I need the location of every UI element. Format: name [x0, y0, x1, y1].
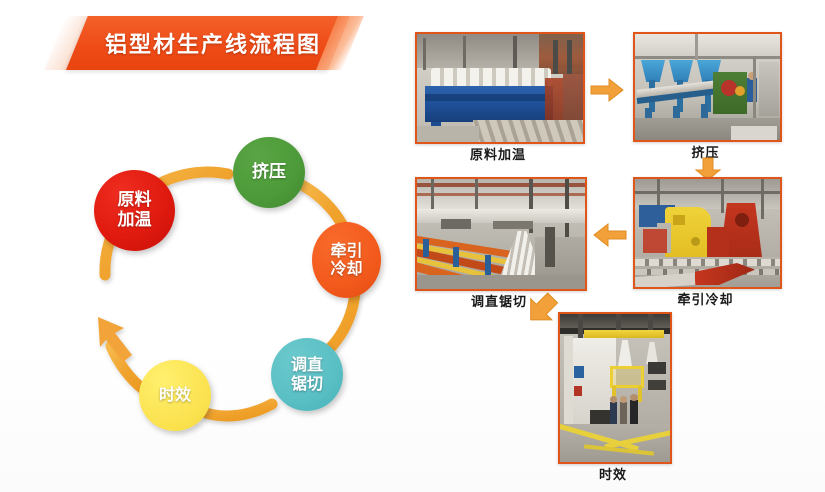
cycle-node-extrusion[interactable]: 挤压: [233, 137, 305, 208]
page-title: 铝型材生产线流程图: [88, 16, 338, 70]
photo-traction-caption: 牵引冷却: [633, 289, 778, 308]
cycle-node-extrusion-line1: 挤压: [252, 163, 286, 183]
photo-extrusion-image: [635, 34, 780, 140]
cycle-node-traction-line2: 冷却: [330, 260, 362, 278]
photo-aging[interactable]: [558, 312, 672, 464]
cycle-node-heating-line2: 加温: [118, 211, 152, 231]
cycle-node-aging-line1: 时效: [159, 386, 191, 404]
photo-sawing[interactable]: [415, 177, 587, 291]
arrow-right-icon: [589, 76, 625, 104]
photo-aging-image: [560, 314, 670, 462]
cycle-node-aging[interactable]: 时效: [139, 360, 211, 431]
photo-heating-image: [417, 34, 583, 142]
photo-traction[interactable]: [633, 177, 782, 289]
arc-segment-sawing-to-aging: [206, 404, 272, 416]
cycle-node-traction[interactable]: 牵引 冷却: [312, 222, 381, 298]
cycle-node-heating-line1: 原料: [118, 191, 152, 211]
page-root: 铝型材生产线流程图: [0, 0, 825, 492]
cycle-node-heating[interactable]: 原料 加温: [94, 170, 175, 251]
cycle-node-sawing-line2: 锯切: [291, 375, 323, 393]
cycle-diagram: 原料 加温 挤压 牵引 冷却 调直 锯切 时效: [60, 120, 405, 450]
photo-aging-caption: 时效: [558, 464, 668, 483]
cycle-node-sawing[interactable]: 调直 锯切: [271, 338, 343, 411]
arrow-left-icon: [592, 221, 628, 249]
photo-extrusion[interactable]: [633, 32, 782, 142]
photo-sawing-image: [417, 179, 585, 289]
photo-heating-caption: 原料加温: [415, 144, 581, 163]
photo-heating[interactable]: [415, 32, 585, 144]
cycle-node-traction-line1: 牵引: [330, 242, 362, 260]
cycle-node-sawing-line1: 调直: [291, 356, 323, 374]
page-title-banner: 铝型材生产线流程图: [44, 16, 354, 70]
photo-traction-image: [635, 179, 780, 287]
